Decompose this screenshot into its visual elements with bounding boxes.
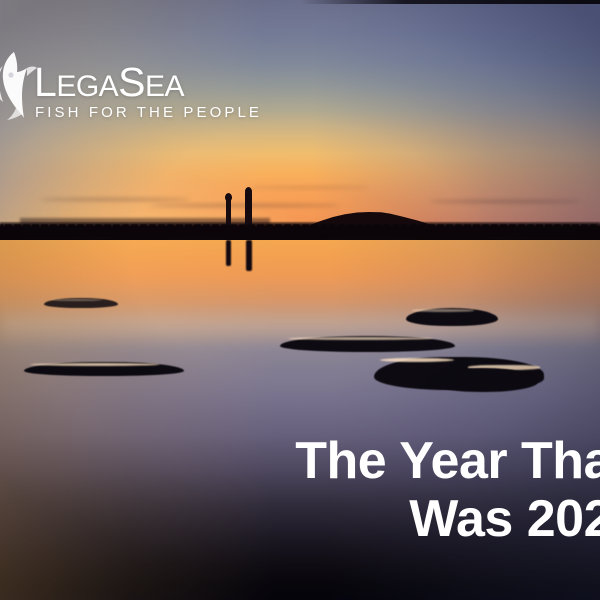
- logo-tagline: FISH FOR THE PEOPLE: [35, 104, 262, 121]
- fish-icon: [0, 46, 38, 120]
- rock-highlight: [412, 309, 474, 312]
- logo-letters-ea: EA: [145, 70, 184, 103]
- cloud-streak: [430, 200, 580, 203]
- cloud-streak: [40, 198, 190, 201]
- promo-graphic: LEGASEA FISH FOR THE PEOPLE The Year Tha…: [0, 0, 600, 600]
- logo-wordmark: LEGASEA: [34, 62, 184, 107]
- person-head-left: [225, 193, 232, 202]
- person-reflection-left: [226, 240, 231, 266]
- headline-line-1: The Year Tha: [0, 432, 600, 490]
- rock-highlight: [50, 299, 102, 301]
- rock-highlight: [288, 337, 433, 340]
- headline: The Year Tha Was 202: [0, 432, 600, 548]
- frame-top-shadow: [300, 0, 600, 4]
- person-head-right: [245, 187, 252, 196]
- logo-letter-l: L: [34, 59, 56, 105]
- logo-letter-s: S: [118, 59, 145, 105]
- rock-highlight: [380, 358, 454, 362]
- rock-highlight: [30, 363, 160, 366]
- legasea-logo[interactable]: LEGASEA FISH FOR THE PEOPLE: [0, 42, 260, 128]
- logo-letters-ega: EGA: [56, 70, 118, 103]
- headline-line-2: Was 202: [0, 490, 600, 548]
- rock-shape: [428, 368, 538, 392]
- person-reflection-right: [246, 240, 252, 271]
- cloud-streak: [250, 186, 370, 189]
